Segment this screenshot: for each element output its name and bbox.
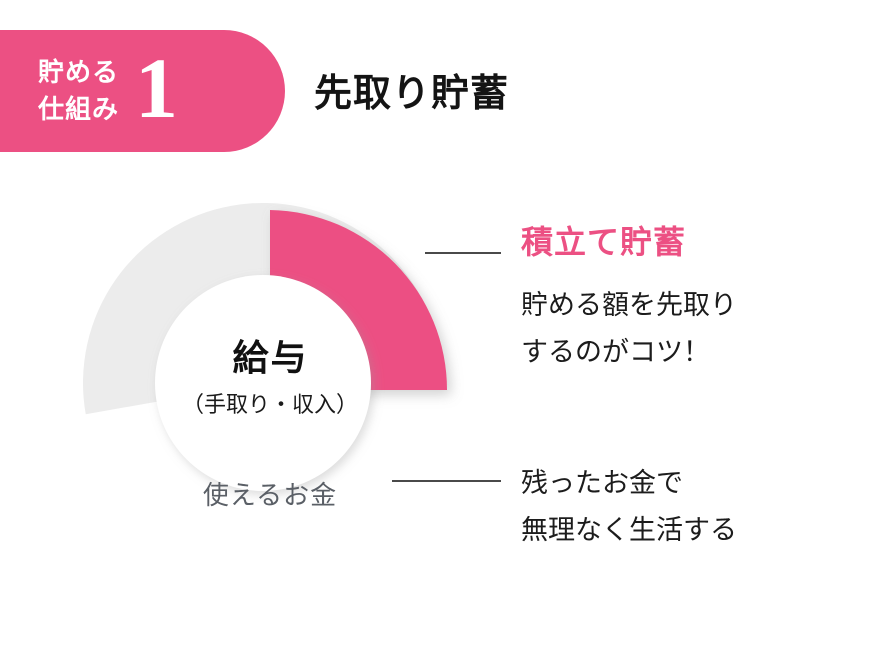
leader-line-savings (425, 252, 501, 254)
callout-spending: 残ったお金で 無理なく生活する (521, 460, 851, 555)
step-badge-caption-line1: 貯める (38, 54, 119, 91)
callout-savings: 積立て貯蓄 貯める額を先取り するのがコツ！ (521, 225, 851, 377)
callout-spending-body-line2: 無理なく生活する (521, 507, 851, 554)
callout-savings-body-line2: するのがコツ！ (521, 329, 851, 376)
callout-savings-body-line1: 貯める額を先取り (521, 282, 851, 329)
step-badge-number: 1 (135, 50, 178, 127)
callout-savings-title: 積立て貯蓄 (521, 225, 851, 260)
donut-chart: 給与 （手取り・収入） 使えるお金 (70, 185, 470, 585)
page-title: 先取り貯蓄 (314, 62, 509, 117)
callout-savings-body: 貯める額を先取り するのがコツ！ (521, 282, 851, 377)
donut-inner-circle (155, 275, 371, 491)
header: 貯める 仕組み 1 先取り貯蓄 (0, 0, 870, 180)
step-badge: 貯める 仕組み 1 (0, 30, 285, 152)
step-badge-caption-line2: 仕組み (38, 91, 119, 128)
donut-chart-svg (70, 185, 470, 585)
step-badge-caption: 貯める 仕組み (38, 54, 119, 128)
callout-spending-body: 残ったお金で 無理なく生活する (521, 460, 851, 555)
callout-spending-body-line1: 残ったお金で (521, 460, 851, 507)
leader-line-spending (392, 480, 501, 482)
